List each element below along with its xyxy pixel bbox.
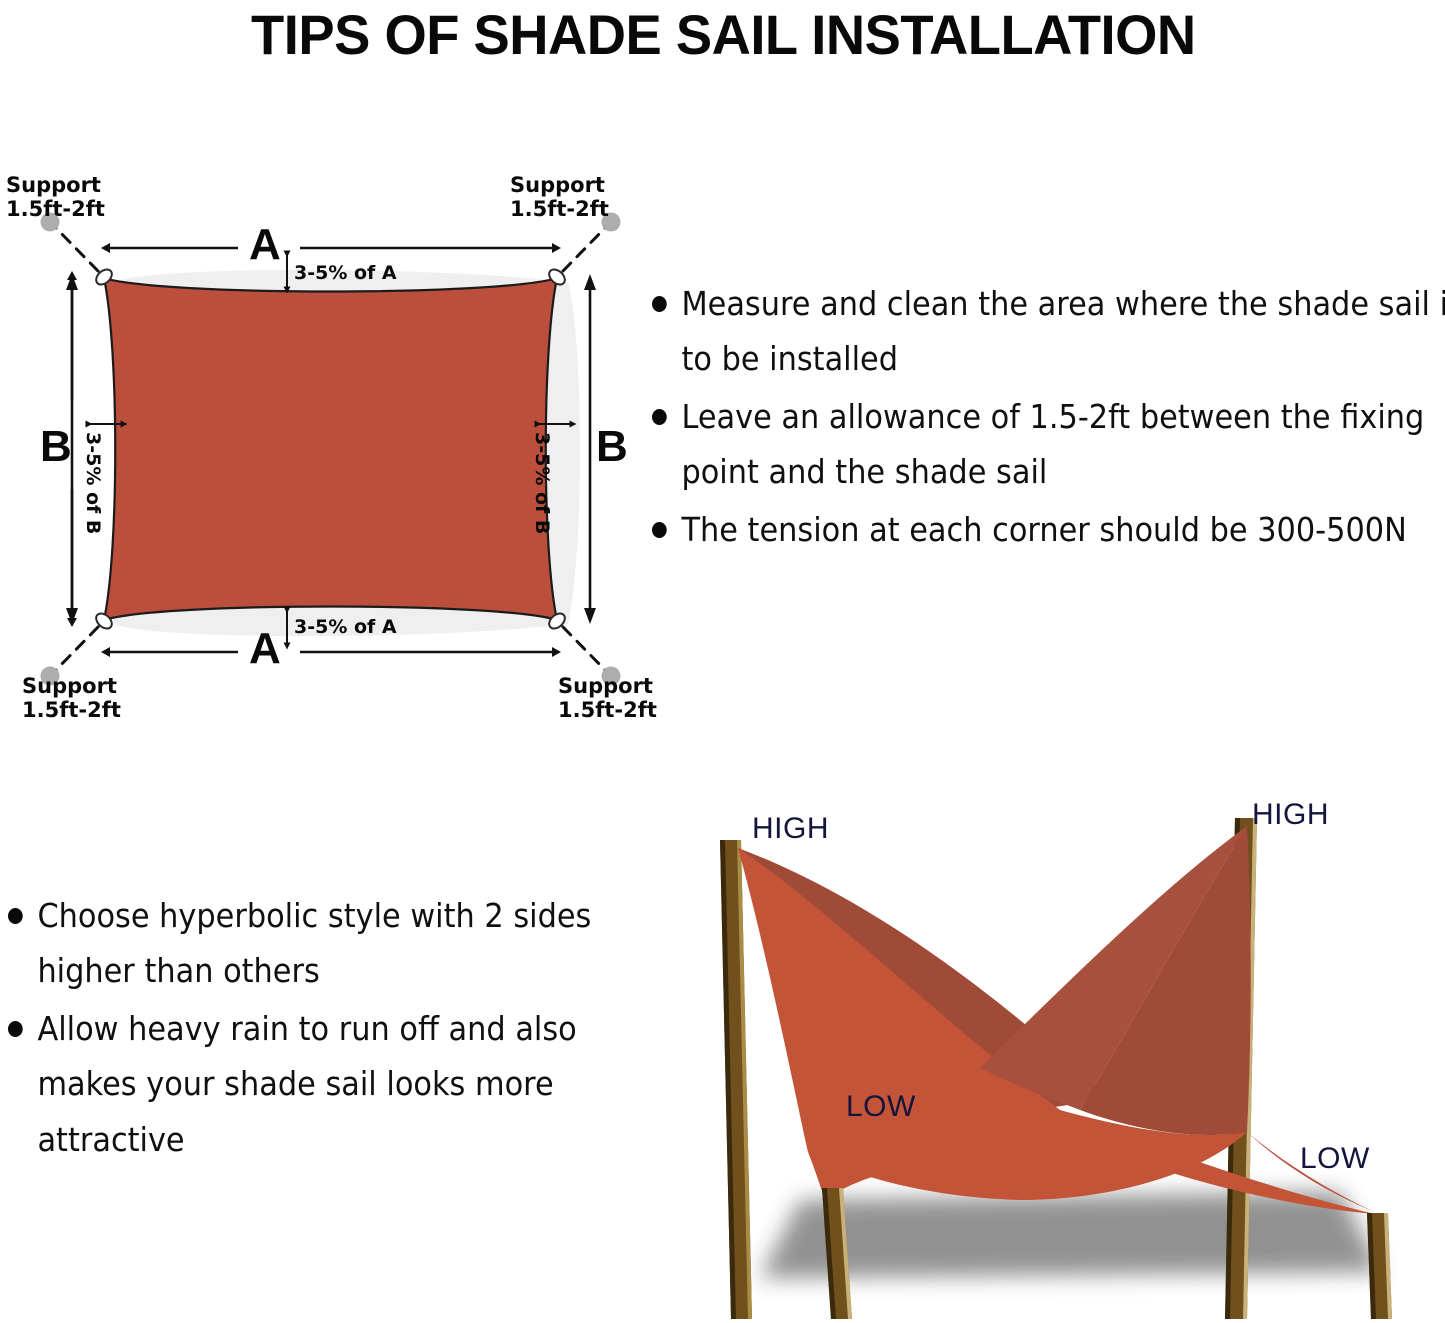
curvature-note-top: 3-5% of A xyxy=(294,262,397,284)
list-item: The tension at each corner should be 300… xyxy=(652,502,1445,557)
post-label-high-left: HIGH xyxy=(752,812,829,846)
list-item: Measure and clean the area where the sha… xyxy=(652,276,1445,387)
rectangle-sail-diagram: Support 1.5ft-2ft Support 1.5ft-2ft Supp… xyxy=(0,150,680,750)
tip-text: Allow heavy rain to run off and also mak… xyxy=(37,1001,652,1167)
installation-tips-list-bottom: Choose hyperbolic style with 2 sides hig… xyxy=(8,888,652,1169)
tip-text: Choose hyperbolic style with 2 sides hig… xyxy=(37,888,652,999)
support-label-bottom-right: Support 1.5ft-2ft xyxy=(558,675,657,723)
bullet-dot-icon xyxy=(652,296,667,312)
curvature-note-bottom: 3-5% of A xyxy=(294,616,397,638)
installation-tips-list-top: Measure and clean the area where the sha… xyxy=(652,276,1445,559)
hyperbolic-sail-svg xyxy=(640,780,1445,1319)
curvature-note-right: 3-5% of B xyxy=(531,432,553,534)
list-item: Leave an allowance of 1.5-2ft between th… xyxy=(652,389,1445,500)
list-item: Allow heavy rain to run off and also mak… xyxy=(8,1001,652,1167)
dimension-label-a-top: A xyxy=(249,220,281,270)
bullet-dot-icon xyxy=(652,522,667,538)
tip-text: The tension at each corner should be 300… xyxy=(681,502,1445,557)
dimension-label-a-bottom: A xyxy=(249,624,281,674)
bullet-dot-icon xyxy=(8,1021,23,1037)
tie-line-top-right xyxy=(563,228,605,271)
post-low-right xyxy=(1367,1213,1392,1319)
support-label-bottom-left: Support 1.5ft-2ft xyxy=(22,675,121,723)
post-high-left xyxy=(720,840,752,1319)
tip-text: Measure and clean the area where the sha… xyxy=(681,276,1445,387)
sail-body xyxy=(104,278,557,620)
post-label-high-right: HIGH xyxy=(1252,798,1329,832)
tie-line-top-left xyxy=(56,228,98,271)
page-title: TIPS OF SHADE SAIL INSTALLATION xyxy=(23,2,1425,67)
support-label-top-right: Support 1.5ft-2ft xyxy=(510,174,609,222)
dimension-label-b-right: B xyxy=(596,422,628,472)
hyperbolic-sail-illustration: HIGH HIGH LOW LOW xyxy=(640,780,1445,1319)
curvature-note-left: 3-5% of B xyxy=(82,432,104,534)
ground-shadow xyxy=(760,1192,1382,1278)
bullet-dot-icon xyxy=(652,409,667,425)
post-label-low-right: LOW xyxy=(1300,1142,1370,1176)
tip-text: Leave an allowance of 1.5-2ft between th… xyxy=(681,389,1445,500)
post-label-low-left: LOW xyxy=(846,1090,916,1124)
tie-line-bottom-left xyxy=(56,627,98,670)
tie-line-bottom-right xyxy=(563,627,605,670)
dimension-line-b-right xyxy=(584,274,596,624)
bullet-dot-icon xyxy=(8,908,23,924)
dimension-label-b-left: B xyxy=(40,422,72,472)
list-item: Choose hyperbolic style with 2 sides hig… xyxy=(8,888,652,999)
support-label-top-left: Support 1.5ft-2ft xyxy=(6,174,105,222)
